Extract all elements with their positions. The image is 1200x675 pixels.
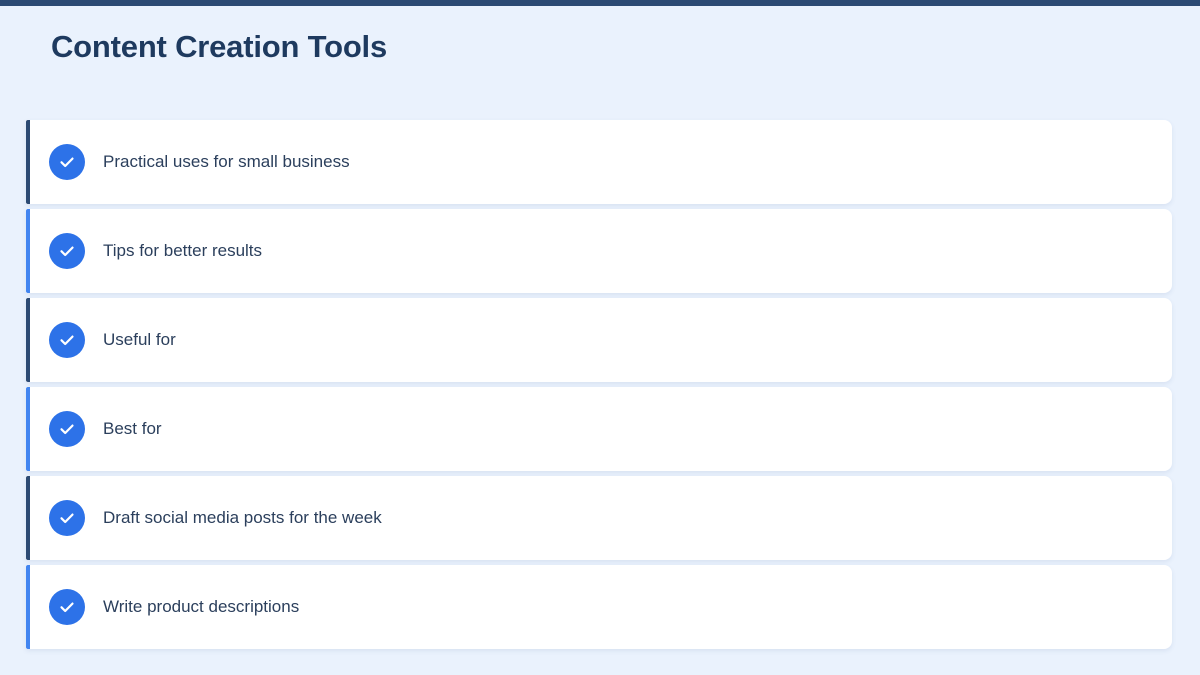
page-title: Content Creation Tools xyxy=(51,29,387,65)
list-item-label: Practical uses for small business xyxy=(103,152,350,172)
check-icon xyxy=(49,322,85,358)
item-accent-bar xyxy=(26,387,30,471)
check-icon xyxy=(49,500,85,536)
top-accent-bar xyxy=(0,0,1200,6)
checklist: Practical uses for small business Tips f… xyxy=(26,120,1172,649)
item-accent-bar xyxy=(26,298,30,382)
list-item[interactable]: Best for xyxy=(26,387,1172,471)
check-icon xyxy=(49,411,85,447)
list-item-label: Best for xyxy=(103,419,162,439)
list-item[interactable]: Practical uses for small business xyxy=(26,120,1172,204)
item-accent-bar xyxy=(26,476,30,560)
list-item-label: Draft social media posts for the week xyxy=(103,508,382,528)
item-accent-bar xyxy=(26,565,30,649)
check-icon xyxy=(49,589,85,625)
list-item[interactable]: Draft social media posts for the week xyxy=(26,476,1172,560)
check-icon xyxy=(49,144,85,180)
list-item-label: Tips for better results xyxy=(103,241,262,261)
item-accent-bar xyxy=(26,209,30,293)
list-item[interactable]: Write product descriptions xyxy=(26,565,1172,649)
list-item[interactable]: Useful for xyxy=(26,298,1172,382)
item-accent-bar xyxy=(26,120,30,204)
list-item-label: Write product descriptions xyxy=(103,597,299,617)
list-item[interactable]: Tips for better results xyxy=(26,209,1172,293)
list-item-label: Useful for xyxy=(103,330,176,350)
check-icon xyxy=(49,233,85,269)
